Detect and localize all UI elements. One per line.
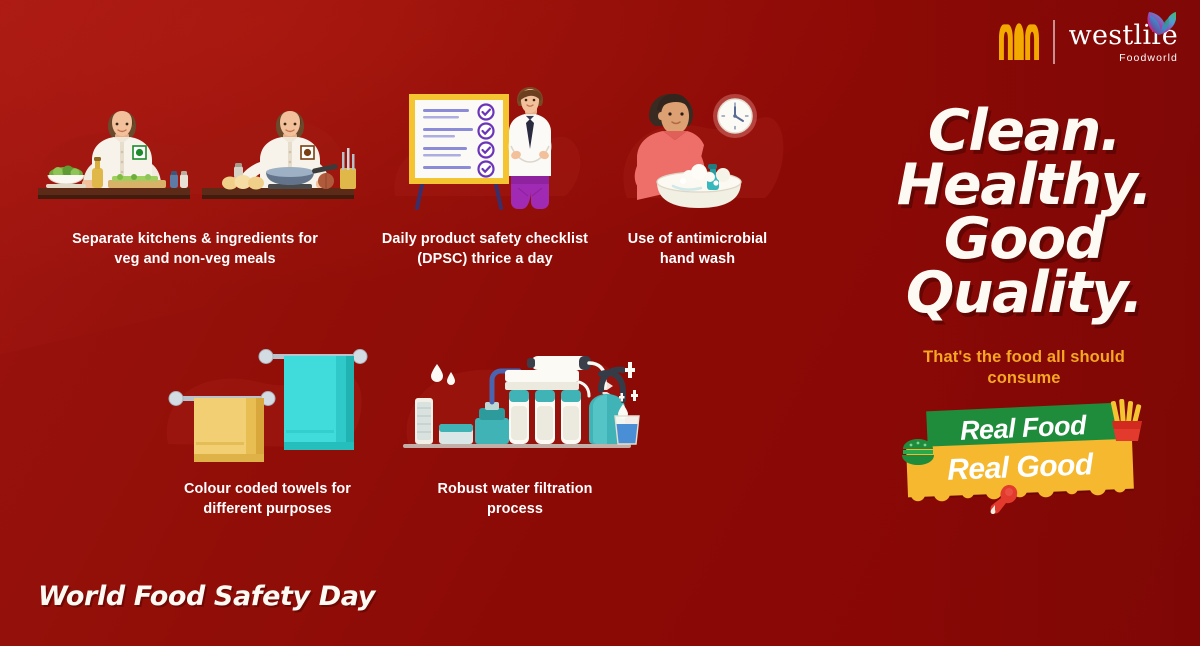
two-towels-on-rails-illustration [150,336,385,466]
headline-line-4: Quality. [874,266,1174,320]
feature-caption: Daily product safety checklist (DPSC) th… [382,230,588,270]
golden-arches-icon [999,21,1039,63]
real-food-real-good-badge: Real Food Real Good [905,405,1143,501]
checklist-board-person-illustration [370,76,600,216]
westlife-tagline: Foodworld [1069,52,1178,64]
feature-dpsc-checklist: Daily product safety checklist (DPSC) th… [370,76,600,270]
person-washing-hands-illustration [600,76,795,216]
westlife-leaf-icon [1143,5,1176,35]
right-message-panel: Clean. Healthy. Good Quality. That's the… [874,104,1174,501]
feature-grid: Separate kitchens & ingredients for veg … [0,76,840,520]
two-chefs-veg-nonveg-illustration [20,76,370,216]
headline-line-3: Good [874,212,1174,266]
feature-caption: Colour coded towels for different purpos… [184,480,351,520]
filter-housings [509,390,581,444]
tagline: That's the food all should consume [874,347,1174,390]
feature-water-filtration: Robust water filtration process [385,336,645,520]
headline-line-1: Clean. [874,104,1174,158]
world-food-safety-day-label: World Food Safety Day [38,581,375,612]
feature-caption: Robust water filtration process [437,480,592,520]
feature-row-2: Colour coded towels for different purpos… [0,336,840,520]
feature-antimicrobial-handwash: Use of antimicrobial hand wash [600,76,795,270]
westlife-logo: westlife Foodworld [1069,20,1178,64]
feature-separate-kitchens: Separate kitchens & ingredients for veg … [20,76,370,270]
feature-caption: Use of antimicrobial hand wash [628,230,768,270]
poster-canvas: westlife Foodworld [0,0,1200,646]
fries-icon [1109,399,1145,443]
feature-caption: Separate kitchens & ingredients for veg … [72,230,318,270]
clock-icon [713,94,757,138]
feature-row-1: Separate kitchens & ingredients for veg … [0,76,840,270]
logo-divider [1053,20,1055,64]
headline-line-2: Healthy. [874,158,1174,212]
badge-bottom-text: Real Good [914,443,1125,493]
water-filtration-system-illustration [385,336,645,466]
feature-colour-coded-towels: Colour coded towels for different purpos… [150,336,385,520]
headline: Clean. Healthy. Good Quality. [874,104,1174,321]
brand-logo-bar: westlife Foodworld [999,20,1178,64]
